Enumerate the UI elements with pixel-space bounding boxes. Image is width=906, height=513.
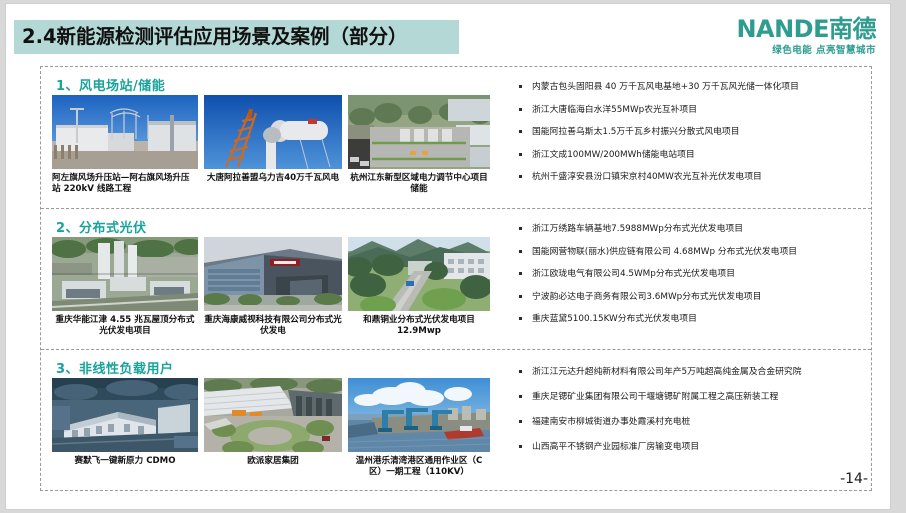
pharma-campus-photo [52, 378, 198, 452]
bullet-item: 浙江大唐临海白水洋55MWp农光互补项目 [513, 104, 858, 116]
bullet-text: 国能阿拉善乌斯太1.5万千瓦乡村振兴分散式风电项目 [532, 127, 740, 137]
bullet-marker-icon [519, 317, 522, 320]
bullet-item: 福建南安市柳城街道办事处霞溪村充电桩 [513, 416, 858, 428]
bullet-text: 重庆蓝黛5100.15KW分布式光伏发电项目 [532, 314, 697, 324]
office-building-photo [204, 237, 342, 311]
card[interactable]: 欧派家居集团 [204, 378, 342, 467]
content-frame: 1、风电场站/储能 [40, 66, 872, 491]
bullet-marker-icon [519, 445, 522, 448]
bullet-text: 浙江大唐临海白水洋55MWp农光互补项目 [532, 105, 697, 115]
bullet-marker-icon [519, 250, 522, 253]
card[interactable]: 重庆华能江津 4.55 兆瓦屋顶分布式光伏发电项目 [52, 237, 198, 337]
bullet-item: 宁波韵必达电子商务有限公司3.6MWp分布式光伏发电项目 [513, 291, 858, 303]
card[interactable]: 赛默飞一键新原力 CDMO [52, 378, 198, 467]
section-heading: 2、分布式光伏 [56, 217, 147, 236]
bullet-marker-icon [519, 420, 522, 423]
bullet-item: 浙江江元达升超纯新材料有限公司年产5万吨超高纯金属及合金研究院 [513, 366, 858, 378]
section-nonlinear-load: 3、非线性负载用户 [41, 349, 871, 492]
bullet-item: 浙江欧珑电气有限公司4.5WMp分布式光伏发电项目 [513, 268, 858, 280]
bullet-text: 浙江欧珑电气有限公司4.5WMp分布式光伏发电项目 [532, 269, 735, 279]
section-distributed-pv: 2、分布式光伏 [41, 208, 871, 349]
bullet-marker-icon [519, 370, 522, 373]
card[interactable]: 重庆海康威视科技有限公司分布式光伏发电 [204, 237, 342, 337]
card-caption: 赛默飞一键新原力 CDMO [52, 456, 198, 467]
thumbnail-row: 阿左旗风场升压站—阿右旗风场升压站 220kV 线路工程 [52, 95, 492, 205]
company-logo: NANDE南德 绿色电能 点亮智慧城市 [736, 16, 876, 58]
thumbnail-row: 赛默飞一键新原力 CDMO [52, 378, 492, 488]
bullet-item: 重庆蓝黛5100.15KW分布式光伏发电项目 [513, 313, 858, 325]
card-caption: 重庆华能江津 4.55 兆瓦屋顶分布式光伏发电项目 [52, 315, 198, 337]
bullet-item: 国能网营物联(丽水)供应链有限公司 4.68MWp 分布式光伏发电项目 [513, 246, 858, 258]
bullet-text: 内蒙古包头固阳县 40 万千瓦风电基地+30 万千瓦风光储一体化项目 [532, 82, 799, 92]
bullet-list: 内蒙古包头固阳县 40 万千瓦风电基地+30 万千瓦风光储一体化项目 浙江大唐临… [513, 81, 858, 194]
card-caption: 杭州江东新型区域电力调节中心项目 储能 [348, 173, 490, 195]
bullet-marker-icon [519, 153, 522, 156]
thumbnail-row: 重庆华能江津 4.55 兆瓦屋顶分布式光伏发电项目 [52, 237, 492, 347]
bullet-list: 浙江万绣路车辆基地7.5988MWp分布式光伏发电项目 国能网营物联(丽水)供应… [513, 223, 858, 336]
logo-wordmark: NANDE南德 [736, 16, 876, 42]
card-caption: 欧派家居集团 [204, 456, 342, 467]
card[interactable]: 大唐阿拉善盟乌力吉40万千瓦风电 [204, 95, 342, 184]
bullet-text: 重庆足锶矿业集团有限公司干堰塘锶矿附属工程之高压新装工程 [532, 392, 778, 402]
bullet-marker-icon [519, 130, 522, 133]
substation-photo [52, 95, 198, 169]
section-wind-storage: 1、风电场站/储能 [41, 67, 871, 208]
bullet-list: 浙江江元达升超纯新材料有限公司年产5万吨超高纯金属及合金研究院 重庆足锶矿业集团… [513, 366, 858, 466]
card[interactable]: 阿左旗风场升压站—阿右旗风场升压站 220kV 线路工程 [52, 95, 198, 195]
card-caption: 重庆海康威视科技有限公司分布式光伏发电 [204, 315, 342, 337]
bullet-item: 国能阿拉善乌斯太1.5万千瓦乡村振兴分散式风电项目 [513, 126, 858, 138]
factory-aerial-photo [204, 378, 342, 452]
bullet-item: 山西高平不锈钢产业园标准厂房输变电项目 [513, 441, 858, 453]
port-terminal-photo [348, 378, 490, 452]
bullet-text: 福建南安市柳城街道办事处霞溪村充电桩 [532, 417, 690, 427]
bullet-marker-icon [519, 85, 522, 88]
bullet-text: 浙江江元达升超纯新材料有限公司年产5万吨超高纯金属及合金研究院 [532, 367, 802, 377]
bullet-text: 浙江文成100MW/200MWh储能电站项目 [532, 150, 695, 160]
card-caption: 阿左旗风场升压站—阿右旗风场升压站 220kV 线路工程 [52, 173, 198, 195]
section-heading: 3、非线性负载用户 [56, 358, 174, 377]
page-number: -14- [840, 471, 868, 487]
card-caption: 大唐阿拉善盟乌力吉40万千瓦风电 [204, 173, 342, 184]
bullet-marker-icon [519, 108, 522, 111]
wind-turbine-photo [204, 95, 342, 169]
bullet-marker-icon [519, 175, 522, 178]
card-caption: 温州港乐清湾港区通用作业区（C 区）一期工程（110KV） [348, 456, 490, 478]
card[interactable]: 温州港乐清湾港区通用作业区（C 区）一期工程（110KV） [348, 378, 490, 478]
campus-mountain-photo [348, 237, 490, 311]
bullet-marker-icon [519, 272, 522, 275]
card[interactable]: 和鼎铜业分布式光伏发电项目 12.9Mwp [348, 237, 490, 337]
bullet-item: 重庆足锶矿业集团有限公司干堰塘锶矿附属工程之高压新装工程 [513, 391, 858, 403]
bullet-item: 内蒙古包头固阳县 40 万千瓦风电基地+30 万千瓦风光储一体化项目 [513, 81, 858, 93]
bullet-text: 宁波韵必达电子商务有限公司3.6MWp分布式光伏发电项目 [532, 292, 761, 302]
bullet-text: 国能网营物联(丽水)供应链有限公司 4.68MWp 分布式光伏发电项目 [532, 247, 797, 257]
slide-canvas: 2.4新能源检测评估应用场景及案例（部分） NANDE南德 绿色电能 点亮智慧城… [6, 4, 890, 509]
energy-storage-aerial-photo [348, 95, 490, 169]
bullet-item: 浙江万绣路车辆基地7.5988MWp分布式光伏发电项目 [513, 223, 858, 235]
bullet-marker-icon [519, 227, 522, 230]
power-plant-aerial-photo [52, 237, 198, 311]
page-title: 2.4新能源检测评估应用场景及案例（部分） [22, 22, 472, 52]
bullet-text: 杭州千盛淳安县汾口镇宋京村40MW农光互补光伏发电项目 [532, 172, 762, 182]
section-heading: 1、风电场站/储能 [56, 75, 165, 94]
bullet-item: 浙江文成100MW/200MWh储能电站项目 [513, 149, 858, 161]
bullet-text: 山西高平不锈钢产业园标准厂房输变电项目 [532, 442, 699, 452]
bullet-item: 杭州千盛淳安县汾口镇宋京村40MW农光互补光伏发电项目 [513, 171, 858, 183]
card-caption: 和鼎铜业分布式光伏发电项目 12.9Mwp [348, 315, 490, 337]
logo-tagline: 绿色电能 点亮智慧城市 [736, 44, 876, 58]
bullet-marker-icon [519, 395, 522, 398]
bullet-marker-icon [519, 295, 522, 298]
bullet-text: 浙江万绣路车辆基地7.5988MWp分布式光伏发电项目 [532, 224, 743, 234]
card[interactable]: 杭州江东新型区域电力调节中心项目 储能 [348, 95, 490, 195]
